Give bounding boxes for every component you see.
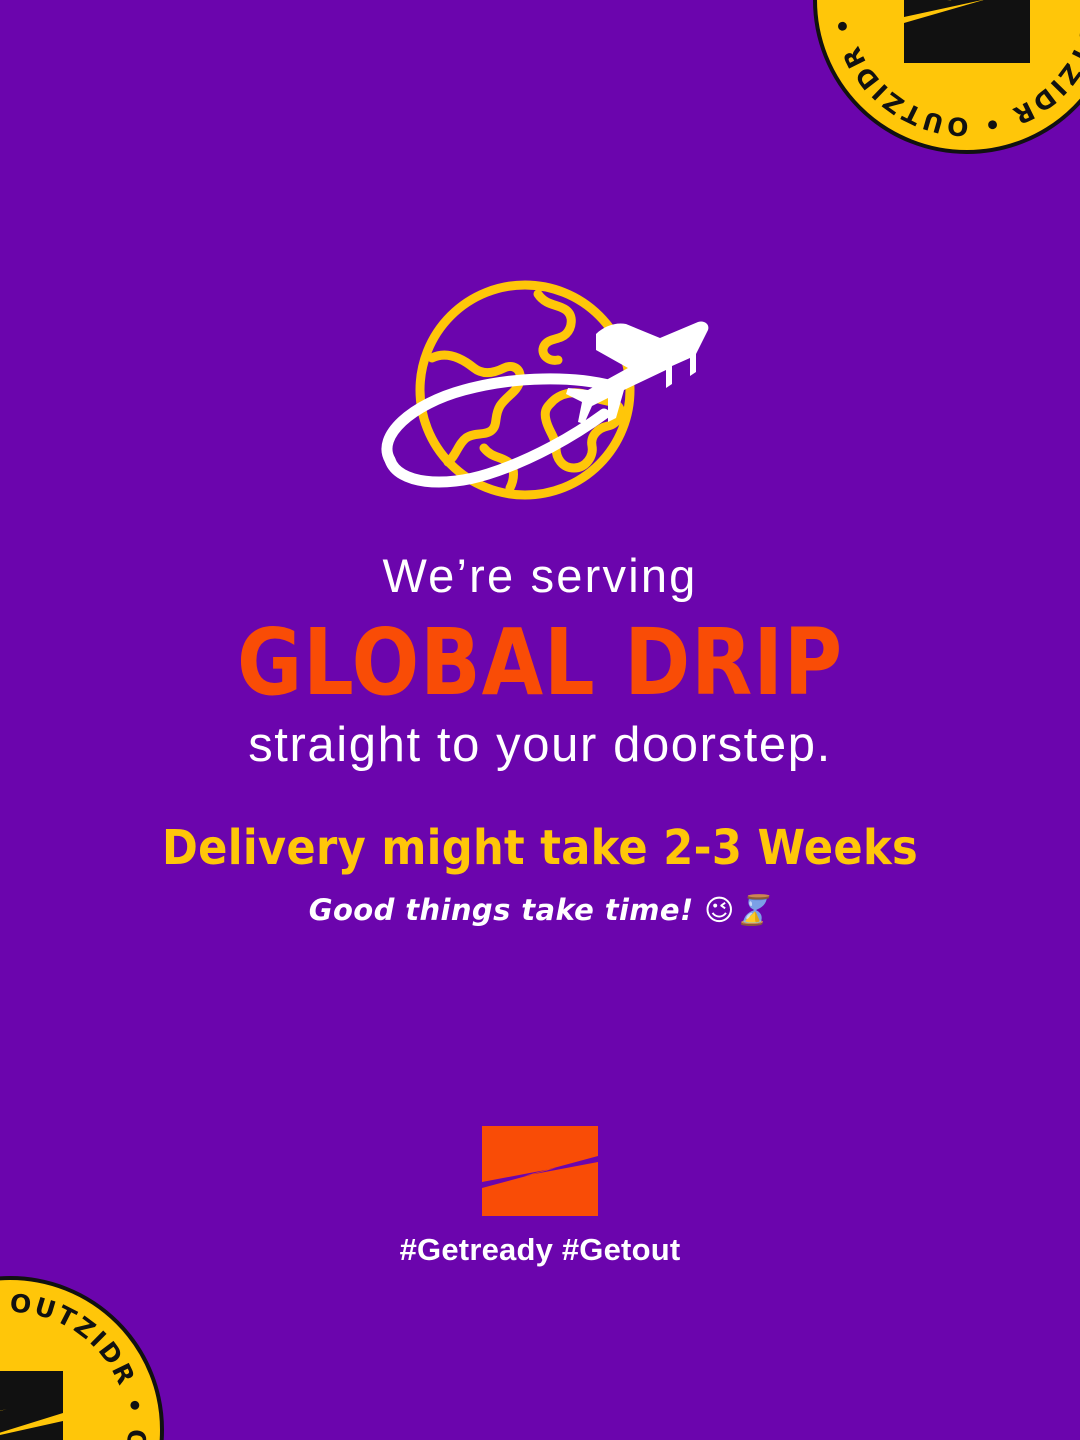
badge-z-mark [0, 1371, 63, 1440]
headline-block: We’re serving GLOBAL DRIP straight to yo… [0, 548, 1080, 775]
badge-top-right: OUTZIDR • OUTZIDR • OUTZIDR • OUTZIDR • [812, 0, 1080, 155]
badge-bottom-left: OUTZIDR • OUTZIDR • OUTZIDR • OUTZIDR • … [0, 1275, 165, 1440]
airplane-icon [566, 321, 708, 424]
footer-hashtags: #Getready #Getout [0, 1232, 1080, 1268]
promo-poster: OUTZIDR • OUTZIDR • OUTZIDR • OUTZIDR • … [0, 0, 1080, 1440]
outzidr-z-logo [476, 1124, 604, 1218]
delivery-notice: Delivery might take 2-3 Weeks Good thing… [0, 822, 1080, 928]
delivery-headline: Delivery might take 2-3 Weeks [0, 822, 1080, 875]
headline-main: GLOBAL DRIP [22, 617, 1059, 709]
headline-line-1: We’re serving [0, 548, 1080, 603]
footer-block: #Getready #Getout [0, 1124, 1080, 1268]
delivery-subtext: Good things take time! 😉⌛ [0, 893, 1080, 928]
globe-with-airplane-icon [360, 272, 720, 512]
badge-z-mark [904, 0, 1030, 63]
headline-line-2: straight to your doorstep. [0, 717, 1080, 775]
